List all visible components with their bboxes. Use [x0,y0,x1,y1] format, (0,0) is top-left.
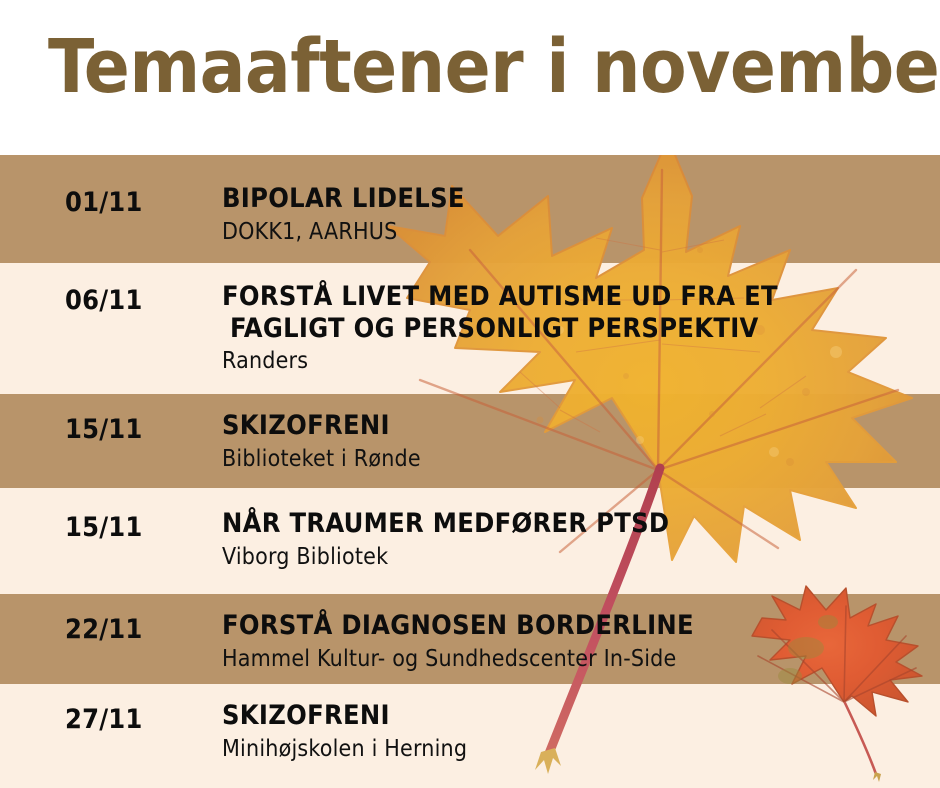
poster-header: Temaaftener i november [0,0,940,155]
schedule-row[interactable]: 15/11 SKIZOFRENI Biblioteket i Rønde [0,394,940,488]
event-body: SKIZOFRENI Biblioteket i Rønde [222,410,930,473]
event-body: SKIZOFRENI Minihøjskolen i Herning [222,700,930,763]
event-venue: Hammel Kultur- og Sundhedscenter In-Side [222,646,930,674]
event-title: FORSTÅ DIAGNOSEN BORDERLINE [222,610,930,642]
poster-root: Temaaftener i november 01/11 BIPOLAR LID… [0,0,940,788]
event-title: SKIZOFRENI [222,700,930,732]
event-date: 01/11 [65,187,142,218]
event-venue: DOKK1, AARHUS [222,219,930,247]
event-venue: Viborg Bibliotek [222,544,930,572]
event-venue: Minihøjskolen i Herning [222,736,930,764]
event-title-line1: FORSTÅ LIVET MED AUTISME UD FRA ET [222,281,778,312]
event-title-line1: SKIZOFRENI [222,410,390,441]
event-venue: Biblioteket i Rønde [222,446,930,474]
event-title: FORSTÅ LIVET MED AUTISME UD FRA ET FAGLI… [222,281,930,344]
event-date: 06/11 [65,285,142,316]
event-body: FORSTÅ LIVET MED AUTISME UD FRA ET FAGLI… [222,281,930,376]
event-body: FORSTÅ DIAGNOSEN BORDERLINE Hammel Kultu… [222,610,930,673]
event-title-line1: BIPOLAR LIDELSE [222,183,465,214]
schedule-row[interactable]: 01/11 BIPOLAR LIDELSE DOKK1, AARHUS [0,155,940,263]
event-date: 22/11 [65,614,142,645]
event-body: NÅR TRAUMER MEDFØRER PTSD Viborg Bibliot… [222,508,930,571]
event-title-line1: FORSTÅ DIAGNOSEN BORDERLINE [222,610,694,641]
event-date: 27/11 [65,704,142,735]
event-title: SKIZOFRENI [222,410,930,442]
event-venue: Randers [222,348,930,376]
event-title-line1: SKIZOFRENI [222,700,390,731]
page-title: Temaaftener i november [48,30,925,104]
schedule-row[interactable]: 15/11 NÅR TRAUMER MEDFØRER PTSD Viborg B… [0,488,940,594]
event-body: BIPOLAR LIDELSE DOKK1, AARHUS [222,183,930,246]
event-date: 15/11 [65,414,142,445]
event-title-line2: FAGLIGT OG PERSONLIGT PERSPEKTIV [222,313,930,345]
event-title: BIPOLAR LIDELSE [222,183,930,215]
event-title: NÅR TRAUMER MEDFØRER PTSD [222,508,930,540]
event-title-line1: NÅR TRAUMER MEDFØRER PTSD [222,508,669,539]
schedule-row[interactable]: 22/11 FORSTÅ DIAGNOSEN BORDERLINE Hammel… [0,594,940,684]
event-date: 15/11 [65,512,142,543]
schedule-row[interactable]: 06/11 FORSTÅ LIVET MED AUTISME UD FRA ET… [0,263,940,394]
schedule-row[interactable]: 27/11 SKIZOFRENI Minihøjskolen i Herning [0,684,940,788]
